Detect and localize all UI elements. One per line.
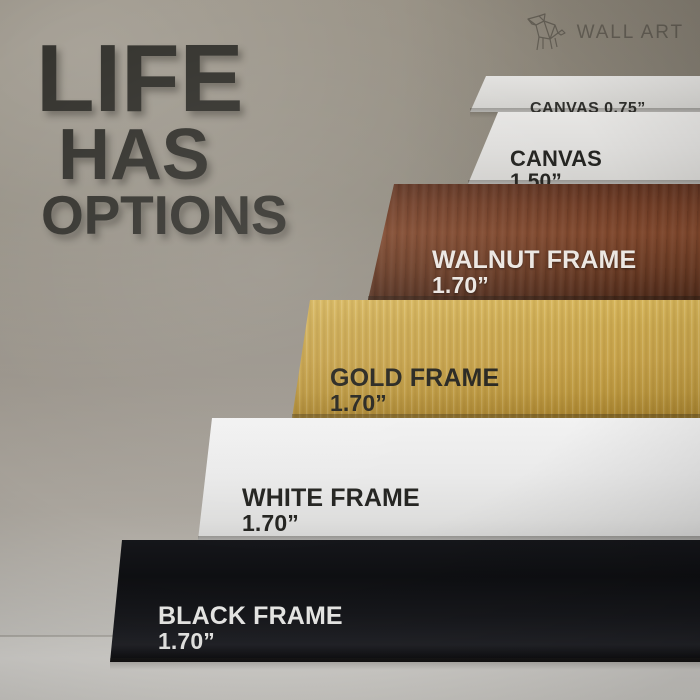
option-depth-black-frame: 1.70”	[158, 629, 343, 653]
option-material-black-frame: BLACK FRAME	[158, 602, 343, 630]
option-material-walnut-frame: WALNUT FRAME	[432, 246, 636, 274]
option-panel-walnut-frame[interactable]: WALNUT FRAME 1.70”	[368, 184, 700, 300]
option-label-black-frame: BLACK FRAME 1.70”	[158, 576, 343, 662]
option-panel-gold-frame[interactable]: GOLD FRAME 1.70”	[292, 300, 700, 418]
option-panel-canvas-075[interactable]: CANVAS 0.75”	[470, 76, 700, 112]
option-material-white-frame: WHITE FRAME	[242, 484, 420, 512]
option-label-white-frame: WHITE FRAME 1.70”	[242, 458, 420, 540]
option-label-canvas-075: CANVAS 0.75”	[530, 84, 646, 112]
option-depth-walnut-frame: 1.70”	[432, 273, 636, 297]
option-label-canvas-150: CANVAS 1.50”	[510, 124, 602, 184]
option-stack: CANVAS 0.75” CANVAS 1.50” WALNUT FRAME 1…	[0, 0, 700, 700]
product-options-poster: LIFE HAS OPTIONS WALL ART	[0, 0, 700, 700]
option-label-gold-frame: GOLD FRAME 1.70”	[330, 338, 499, 418]
option-panel-white-frame[interactable]: WHITE FRAME 1.70”	[198, 418, 700, 540]
option-depth-canvas-150: 1.50”	[510, 171, 602, 184]
option-depth-white-frame: 1.70”	[242, 511, 420, 535]
option-panel-canvas-150[interactable]: CANVAS 1.50”	[468, 112, 700, 184]
option-material-gold-frame: GOLD FRAME	[330, 364, 499, 392]
option-label-walnut-frame: WALNUT FRAME 1.70”	[432, 220, 636, 300]
option-depth-gold-frame: 1.70”	[330, 391, 499, 415]
option-material-canvas-075: CANVAS 0.75”	[530, 100, 646, 112]
option-panel-black-frame[interactable]: BLACK FRAME 1.70”	[110, 540, 700, 662]
option-material-canvas-150: CANVAS	[510, 146, 602, 171]
